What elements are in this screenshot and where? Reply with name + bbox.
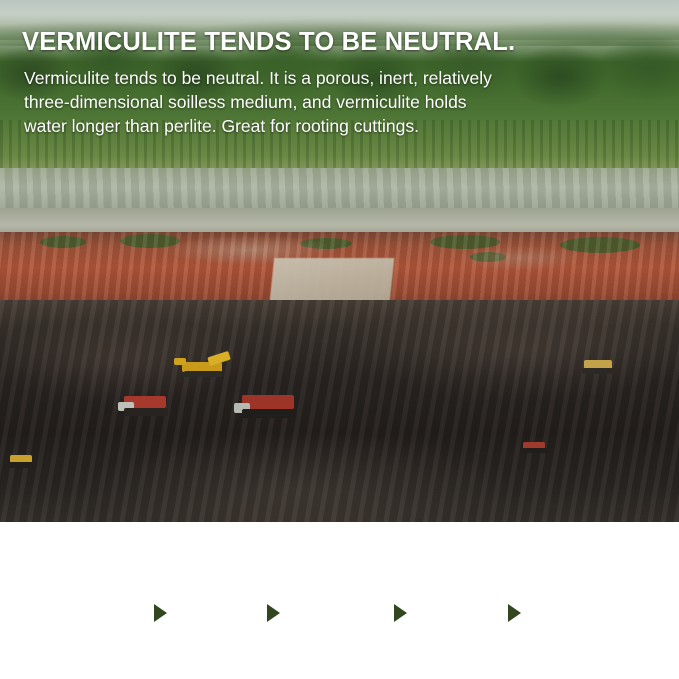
vegetation-tuft [40, 236, 86, 248]
haul-truck-red [118, 392, 178, 418]
arrow-icon [508, 604, 521, 622]
loader-yellow [6, 452, 42, 470]
mine-photo: VERMICULITE TENDS TO BE NEUTRAL. Vermicu… [0, 0, 679, 522]
haul-truck-small [520, 440, 554, 456]
arrow-icon [267, 604, 280, 622]
coal-pit-floor [0, 300, 679, 522]
vegetation-tuft [300, 238, 352, 249]
vegetation-tuft [120, 234, 180, 248]
arrow-icon [394, 604, 407, 622]
feature-bubble-row: HIGHQUALITY ALLNATURAL GOODMEDIUMFORROOT… [0, 522, 679, 679]
excavator-yellow [172, 352, 234, 378]
product-infographic: VERMICULITE TENDS TO BE NEUTRAL. Vermicu… [0, 0, 679, 679]
vegetation-tuft [430, 235, 500, 249]
haul-truck-red-2 [234, 392, 304, 422]
arrow-icon [154, 604, 167, 622]
page-title: VERMICULITE TENDS TO BE NEUTRAL. [22, 28, 515, 57]
vegetation-tuft [470, 252, 506, 262]
bulldozer-yellow [578, 356, 622, 376]
description-text: Vermiculite tends to be neutral. It is a… [24, 66, 494, 138]
vegetation-tuft [560, 237, 640, 253]
feature-strip: HIGHQUALITY ALLNATURAL GOODMEDIUMFORROOT… [0, 522, 679, 679]
